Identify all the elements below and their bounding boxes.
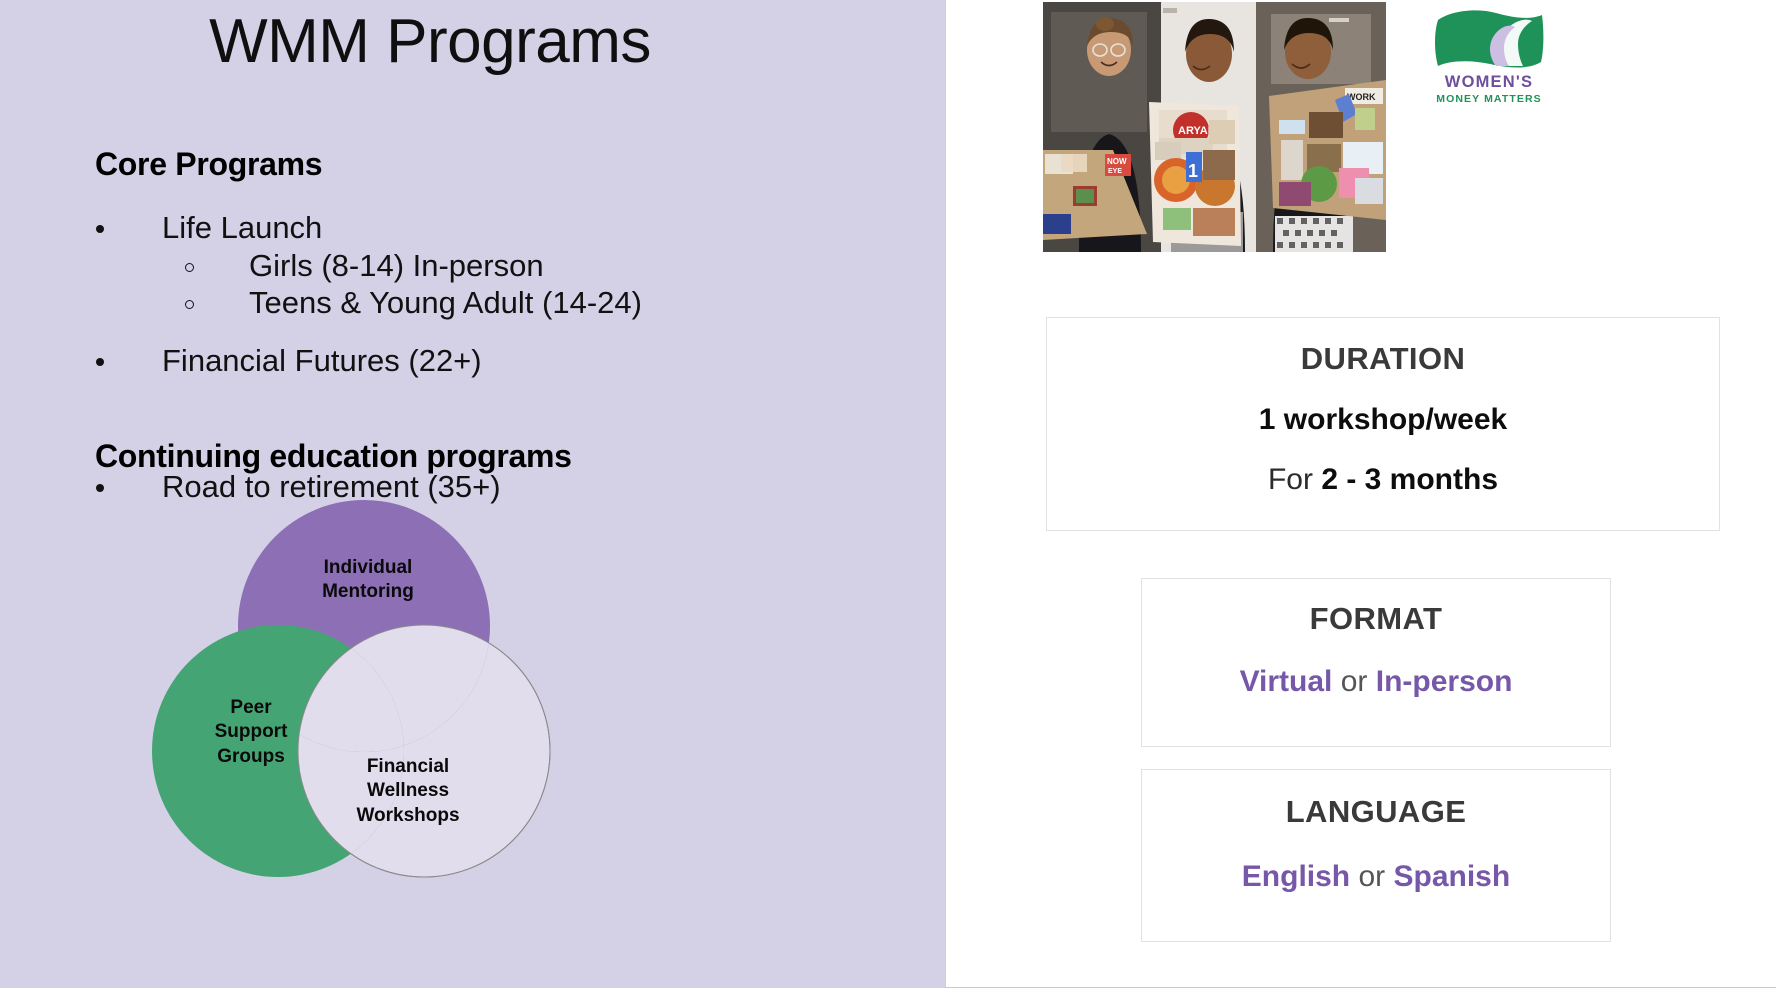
info-card-duration: DURATION 1 workshop/week For 2 - 3 month… [1046,317,1720,531]
bullet-dot-icon [96,484,104,492]
page-title: WMM Programs [0,6,860,77]
slide-canvas: WMM Programs Core Programs Life Launch G… [0,0,1776,1003]
language-values: English or Spanish [1142,860,1610,894]
list-item-label: Financial Futures (22+) [162,343,482,379]
bottom-rule [945,987,1776,988]
list-item-girls: Girls (8-14) In-person [185,248,544,284]
section-heading-core-programs: Core Programs [95,146,322,183]
language-value-english: English [1242,860,1350,893]
format-value-virtual: Virtual [1240,665,1333,698]
left-content-panel: WMM Programs Core Programs Life Launch G… [0,0,945,988]
duration-frequency: 1 workshop/week [1047,403,1719,437]
venn-diagram: Individual Mentoring Peer Support Groups… [178,508,558,898]
bullet-dot-icon [96,358,104,366]
card-title-language: LANGUAGE [1142,794,1610,830]
card-title-format: FORMAT [1142,601,1610,637]
language-value-spanish: Spanish [1394,860,1511,893]
bullet-circle-icon [185,300,194,309]
list-item-label: Teens & Young Adult (14-24) [249,285,642,321]
format-value-in-person: In-person [1376,665,1513,698]
logo-wordmark: WOMEN'S [1424,74,1554,91]
list-item-teens: Teens & Young Adult (14-24) [185,285,642,321]
list-item-label: Life Launch [162,210,322,246]
duration-length: For 2 - 3 months [1047,463,1719,497]
venn-label-peer-support-groups: Peer Support Groups [186,696,316,769]
venn-label-financial-wellness-workshops: Financial Wellness Workshops [318,755,498,828]
svg-text:EYE: EYE [1108,168,1122,175]
info-card-format: FORMAT Virtual or In-person [1141,578,1611,747]
list-item-label: Road to retirement (35+) [162,469,501,505]
svg-text:NOW: NOW [1107,157,1127,166]
card-title-duration: DURATION [1047,341,1719,377]
venn-label-individual-mentoring: Individual Mentoring [288,556,448,605]
list-item-life-launch: Life Launch [96,210,322,246]
womens-money-matters-mark-icon [1424,8,1554,72]
bullet-dot-icon [96,225,104,233]
logo: WOMEN'S MONEY MATTERS [1424,8,1554,104]
svg-text:1: 1 [1188,161,1198,181]
list-item-label: Girls (8-14) In-person [249,248,544,284]
info-card-language: LANGUAGE English or Spanish [1141,769,1611,942]
list-item-road-to-retirement: Road to retirement (35+) [96,469,501,505]
list-item-financial-futures: Financial Futures (22+) [96,343,482,379]
bullet-circle-icon [185,263,194,272]
logo-subtitle: MONEY MATTERS [1424,94,1554,105]
format-values: Virtual or In-person [1142,665,1610,699]
panel-divider [945,0,946,988]
program-photo: NOW EYE ARYAH 1 WORK [1043,2,1386,252]
